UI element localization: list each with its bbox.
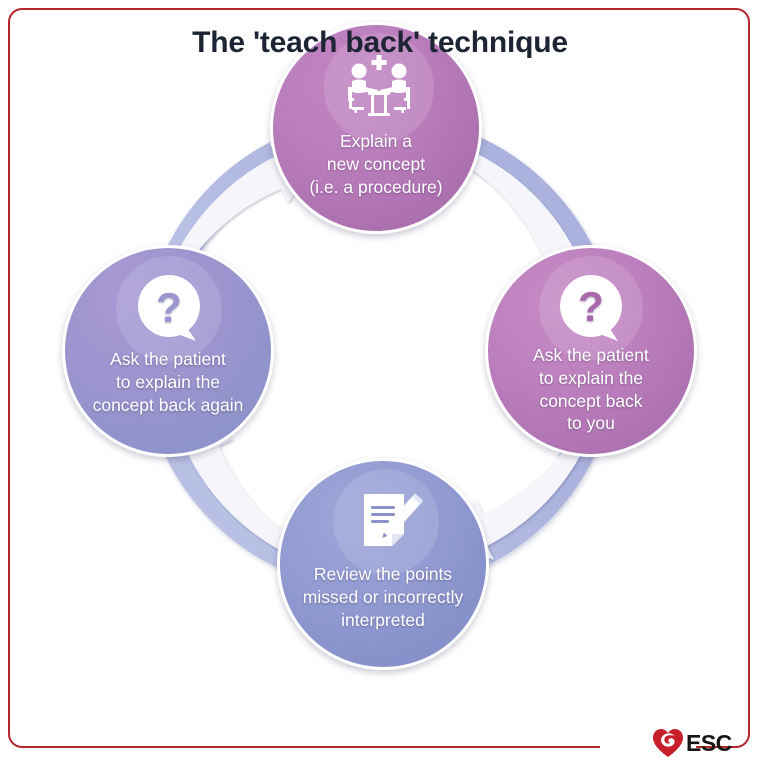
cycle-node-ask-again-caption: Ask the patient to explain the concept b… (65, 348, 271, 416)
cycle-node-review-points[interactable]: Review the points missed or incorrectly … (277, 458, 489, 670)
question-speech-bubble-icon: ? (127, 267, 211, 351)
esc-heart-icon (652, 728, 684, 758)
svg-text:?: ? (578, 283, 604, 330)
cycle-node-ask-explain-back-caption: Ask the patient to explain the concept b… (488, 344, 694, 435)
cycle-node-ask-again[interactable]: ? Ask the patient to explain the concept… (62, 245, 274, 457)
esc-logo-text: ESC (686, 730, 732, 757)
cycle-node-review-points-caption: Review the points missed or incorrectly … (280, 563, 486, 631)
cycle-node-explain-caption: Explain a new concept (i.e. a procedure) (273, 130, 479, 198)
page-title: The 'teach back' technique (0, 26, 760, 60)
question-speech-bubble-icon: ? (550, 267, 632, 349)
document-pencil-icon (344, 480, 428, 564)
esc-logo: ESC (652, 726, 748, 760)
cycle-node-ask-explain-back[interactable]: ? Ask the patient to explain the concept… (485, 245, 697, 457)
svg-text:?: ? (156, 284, 182, 331)
